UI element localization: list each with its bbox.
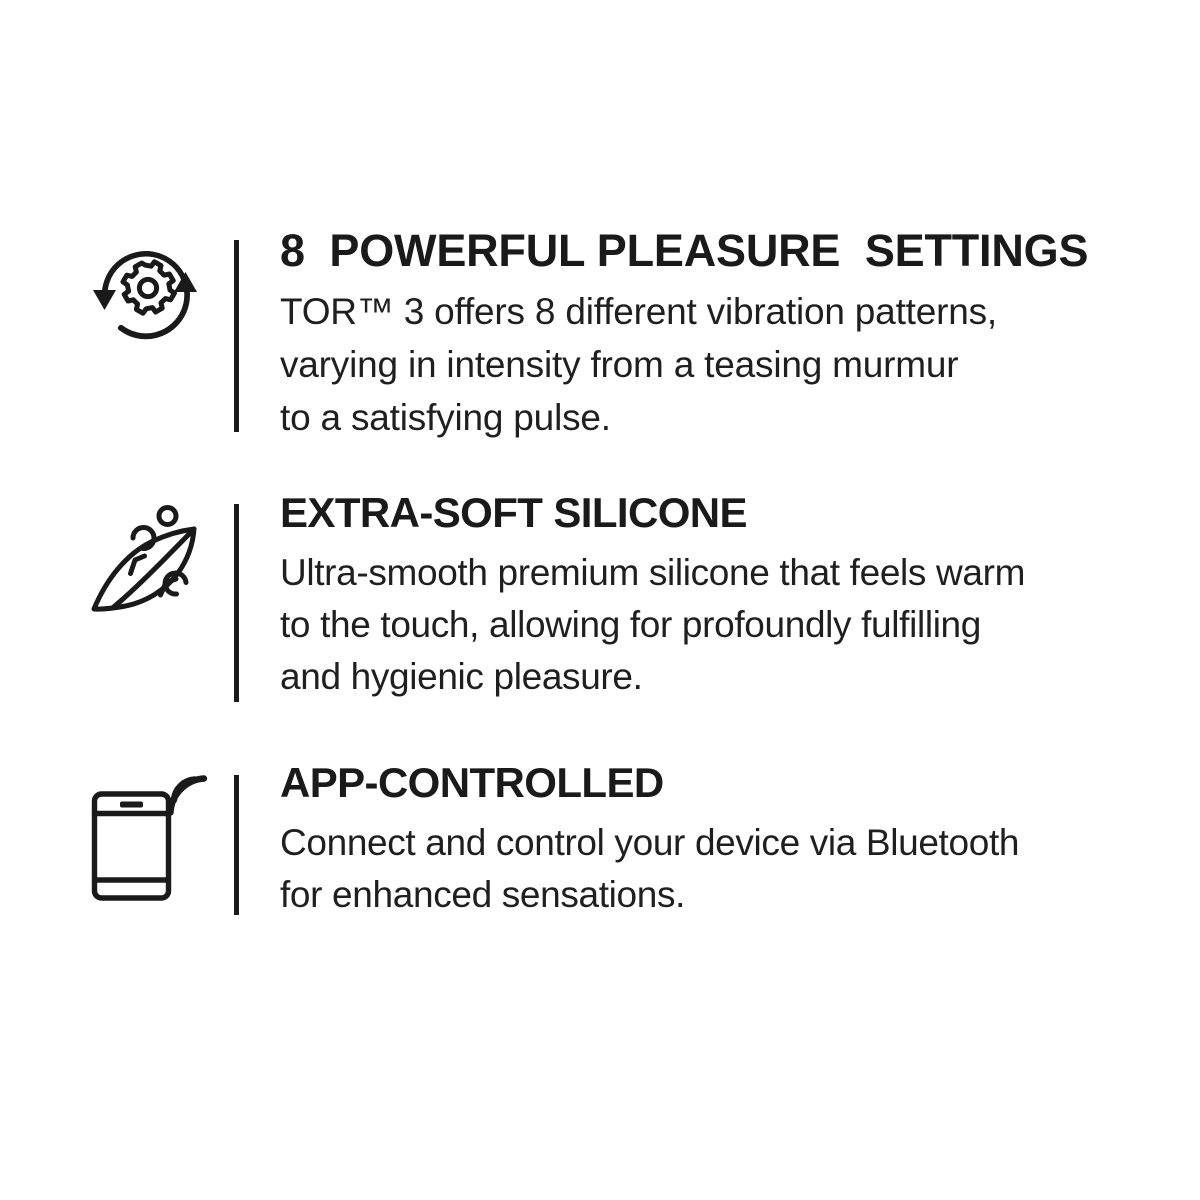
gear-icon [123, 262, 174, 313]
dot-circle-icon [159, 508, 176, 525]
feature-body: Ultra-smooth premium silicone that feels… [280, 547, 1025, 703]
feature-body-line: Connect and control your device via Blue… [280, 817, 1019, 869]
feather-barb-left-icon [131, 556, 145, 574]
feature-divider-cell [220, 492, 252, 702]
feature-icon-cell [70, 492, 220, 621]
feature-body-line: to a satisfying pulse. [280, 391, 1088, 444]
feature-icon-cell [70, 762, 220, 906]
feature-body-line: and hygienic pleasure. [280, 651, 1025, 703]
feature-body-line: varying in intensity from a teasing murm… [280, 338, 1088, 391]
feature-body-line: TOR™ 3 offers 8 different vibration patt… [280, 285, 1088, 338]
feature-body: TOR™ 3 offers 8 different vibration patt… [280, 285, 1088, 444]
vertical-divider [234, 240, 239, 432]
arrow-down-head-icon [93, 290, 116, 310]
feature-text-cell: EXTRA-SOFT SILICONE Ultra-smooth premium… [252, 492, 1025, 703]
feature-text-cell: 8 POWERFUL PLEASURE SETTINGS TOR™ 3 offe… [252, 228, 1088, 444]
feature-heading: EXTRA-SOFT SILICONE [280, 492, 1025, 534]
feature-body: Connect and control your device via Blue… [280, 817, 1019, 921]
feature-body-line: Ultra-smooth premium silicone that feels… [280, 547, 1025, 599]
feature-list: 8 POWERFUL PLEASURE SETTINGS TOR™ 3 offe… [0, 0, 1200, 1200]
vertical-divider [234, 504, 239, 702]
feature-item-powerful-pleasure-settings: 8 POWERFUL PLEASURE SETTINGS TOR™ 3 offe… [70, 228, 1088, 444]
gear-refresh-cycle-icon [86, 232, 204, 350]
feature-body-line: for enhanced sensations. [280, 869, 1019, 921]
feature-icon-cell [70, 228, 220, 350]
phone-speaker-icon [120, 802, 143, 808]
feature-divider-cell [220, 762, 252, 915]
feather-soft-icon [80, 496, 210, 621]
vertical-divider [234, 775, 239, 915]
arrow-up-head-icon [174, 272, 197, 292]
feature-heading: APP-CONTROLLED [280, 762, 1019, 804]
feature-body-line: to the touch, allowing for profoundly fu… [280, 599, 1025, 651]
feature-item-extra-soft-silicone: EXTRA-SOFT SILICONE Ultra-smooth premium… [70, 492, 1025, 703]
smartphone-signal-icon [82, 766, 208, 906]
feature-heading: 8 POWERFUL PLEASURE SETTINGS [280, 228, 1088, 273]
signal-arc-inner-icon [171, 779, 205, 813]
feature-text-cell: APP-CONTROLLED Connect and control your … [252, 762, 1019, 921]
feature-divider-cell [220, 228, 252, 432]
feature-item-app-controlled: APP-CONTROLLED Connect and control your … [70, 762, 1019, 921]
